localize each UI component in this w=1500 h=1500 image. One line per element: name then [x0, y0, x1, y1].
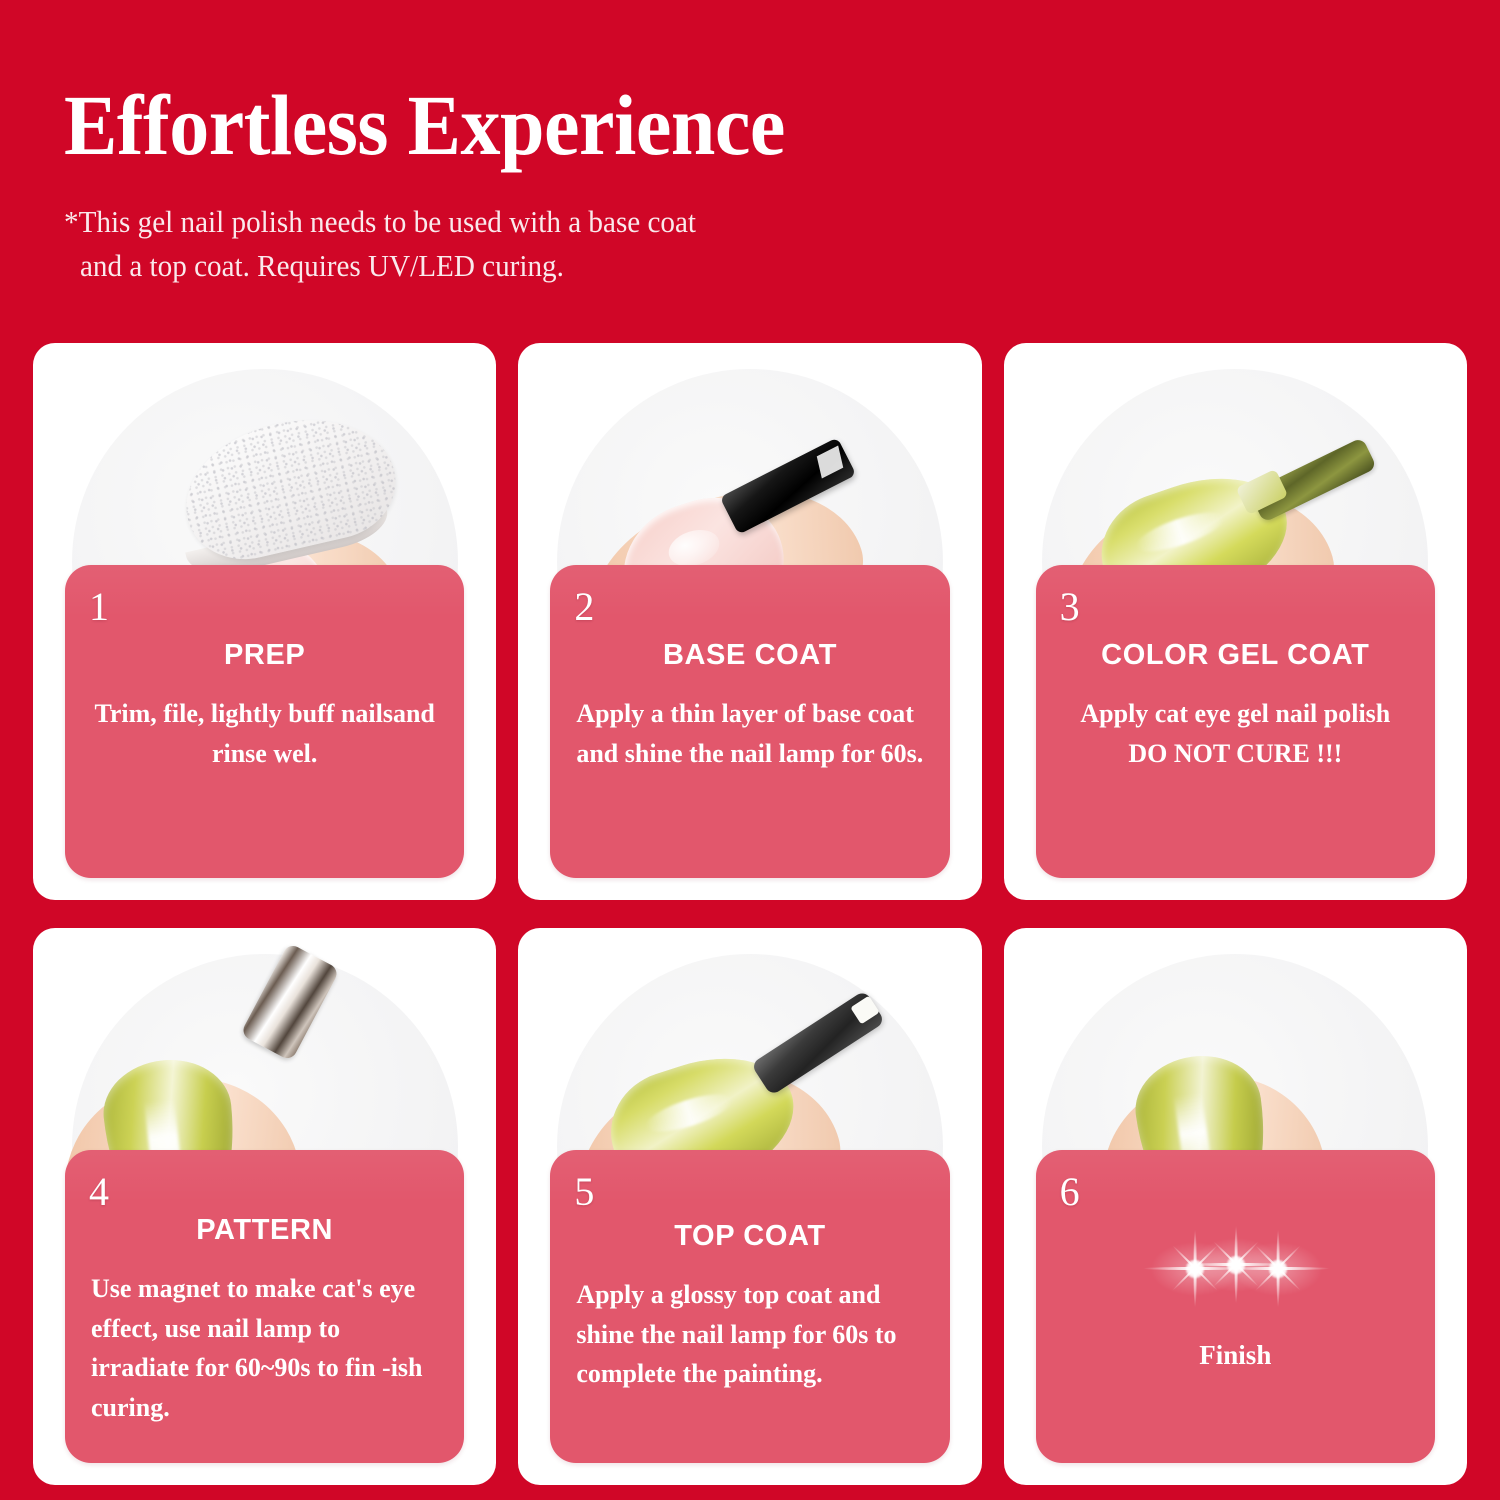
- step-card-3: 3 COLOR GEL COAT Apply cat eye gel nail …: [1004, 343, 1467, 900]
- step-title: BASE COAT: [576, 639, 923, 672]
- step-panel-4: 4 PATTERN Use magnet to make cat's eye e…: [65, 1150, 464, 1463]
- step-number: 4: [89, 1172, 109, 1212]
- step-panel-3: 3 COLOR GEL COAT Apply cat eye gel nail …: [1036, 565, 1435, 878]
- magnet-tool-top: [240, 942, 340, 1061]
- header: Effortless Experience *This gel nail pol…: [64, 82, 1444, 288]
- step-number: 3: [1060, 587, 1080, 627]
- step-description-line-1: Apply cat eye gel nail polish: [1080, 699, 1390, 728]
- step-number: 5: [574, 1172, 594, 1212]
- sparkle-icon: [1062, 1216, 1409, 1324]
- step-description: Use magnet to make cat's eye effect, use…: [91, 1269, 438, 1427]
- step-card-2: 2 BASE COAT Apply a thin layer of base c…: [518, 343, 981, 900]
- finish-label: Finish: [1062, 1340, 1409, 1371]
- step-panel-5: 5 TOP COAT Apply a glossy top coat and s…: [550, 1150, 949, 1463]
- step-description-line-2: DO NOT CURE !!!: [1128, 739, 1342, 768]
- page-title: Effortless Experience: [64, 82, 1347, 168]
- step-number: 6: [1060, 1172, 1080, 1212]
- step-card-5: 5 TOP COAT Apply a glossy top coat and s…: [518, 928, 981, 1485]
- steps-grid: 1 PREP Trim, file, lightly buff nailsand…: [33, 343, 1467, 1485]
- step-panel-6: 6 Finish: [1036, 1150, 1435, 1463]
- subtitle-line-1: *This gel nail polish needs to be used w…: [64, 204, 696, 239]
- step-card-6: 6 Finish: [1004, 928, 1467, 1485]
- step-title: PREP: [91, 639, 438, 672]
- step-number: 1: [89, 587, 109, 627]
- step-title: COLOR GEL COAT: [1062, 639, 1409, 672]
- step-panel-2: 2 BASE COAT Apply a thin layer of base c…: [550, 565, 949, 878]
- step-card-1: 1 PREP Trim, file, lightly buff nailsand…: [33, 343, 496, 900]
- step-description: Apply a thin layer of base coat and shin…: [576, 694, 923, 773]
- step-number: 2: [574, 587, 594, 627]
- step-panel-1: 1 PREP Trim, file, lightly buff nailsand…: [65, 565, 464, 878]
- step-title: PATTERN: [91, 1214, 438, 1247]
- step-description: Apply a glossy top coat and shine the na…: [576, 1275, 923, 1394]
- step-card-4: 4 PATTERN Use magnet to make cat's eye e…: [33, 928, 496, 1485]
- page-subtitle: *This gel nail polish needs to be used w…: [64, 200, 1361, 288]
- infographic-page: Effortless Experience *This gel nail pol…: [0, 0, 1500, 1500]
- step-title: TOP COAT: [576, 1220, 923, 1253]
- step-description: Trim, file, lightly buff nailsand rinse …: [91, 694, 438, 773]
- step-description: Apply cat eye gel nail polish DO NOT CUR…: [1062, 694, 1409, 773]
- subtitle-line-2: and a top coat. Requires UV/LED curing.: [64, 244, 1361, 288]
